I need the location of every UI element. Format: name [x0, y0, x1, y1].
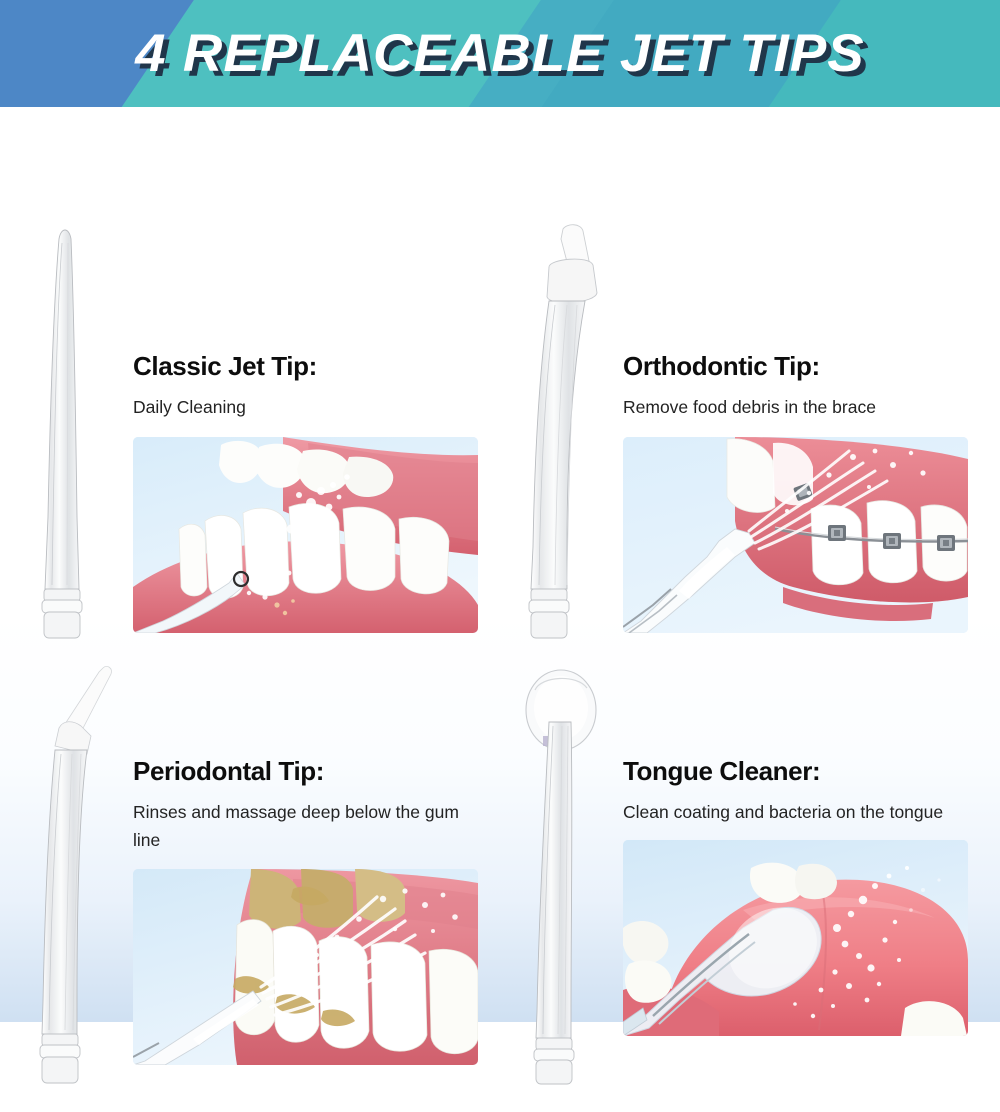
- tongue-cleaning-photo: [623, 840, 968, 1036]
- tip-title: Periodontal Tip:: [133, 757, 488, 787]
- page-title: 4 REPLACEABLE JET TIPS: [0, 0, 1000, 107]
- tip-description: Rinses and massage deep below the gum li…: [133, 798, 473, 855]
- tip-content: Periodontal Tip: Rinses and massage deep…: [133, 662, 488, 1065]
- tip-content: Tongue Cleaner: Clean coating and bacter…: [623, 662, 978, 1036]
- tip-title: Orthodontic Tip:: [623, 352, 978, 382]
- tip-card-periodontal-tip: Periodontal Tip: Rinses and massage deep…: [15, 662, 490, 1112]
- tip-title: Classic Jet Tip:: [133, 352, 488, 382]
- orthodontic-tip-nozzle: [505, 217, 620, 647]
- teeth-gums-water-spray-photo: [133, 437, 478, 633]
- classic-jet-tip-nozzle: [15, 217, 130, 647]
- tip-title: Tongue Cleaner:: [623, 757, 978, 787]
- tip-card-classic-jet-tip: Classic Jet Tip: Daily Cleaning: [15, 217, 490, 667]
- tip-description: Daily Cleaning: [133, 393, 473, 421]
- tip-card-orthodontic-tip: Orthodontic Tip: Remove food debris in t…: [505, 217, 980, 667]
- tongue-cleaner-nozzle: [505, 662, 620, 1092]
- tip-card-tongue-cleaner: Tongue Cleaner: Clean coating and bacter…: [505, 662, 980, 1112]
- braces-water-spray-photo: [623, 437, 968, 633]
- tip-content: Classic Jet Tip: Daily Cleaning: [133, 217, 488, 633]
- periodontal-tip-nozzle: [15, 662, 130, 1092]
- header-banner: 4 REPLACEABLE JET TIPS: [0, 0, 1000, 107]
- tip-description: Remove food debris in the brace: [623, 393, 963, 421]
- tip-content: Orthodontic Tip: Remove food debris in t…: [623, 217, 978, 633]
- gum-line-water-spray-photo: [133, 869, 478, 1065]
- tip-description: Clean coating and bacteria on the tongue: [623, 798, 963, 826]
